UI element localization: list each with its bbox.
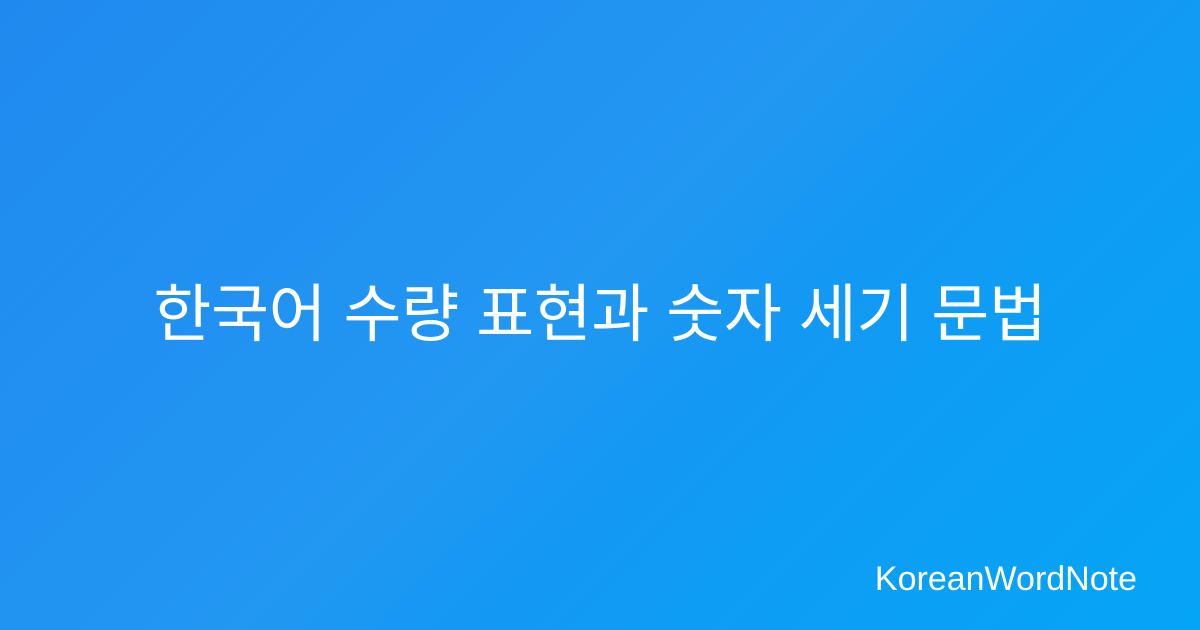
- brand-name: KoreanWordNote: [875, 562, 1137, 596]
- og-card: 한국어 수량 표현과 숫자 세기 문법 KoreanWordNote: [0, 0, 1200, 630]
- title-block: 한국어 수량 표현과 숫자 세기 문법: [0, 275, 1200, 356]
- brand-block: KoreanWordNote: [875, 562, 1137, 596]
- page-title: 한국어 수량 표현과 숫자 세기 문법: [153, 275, 1046, 356]
